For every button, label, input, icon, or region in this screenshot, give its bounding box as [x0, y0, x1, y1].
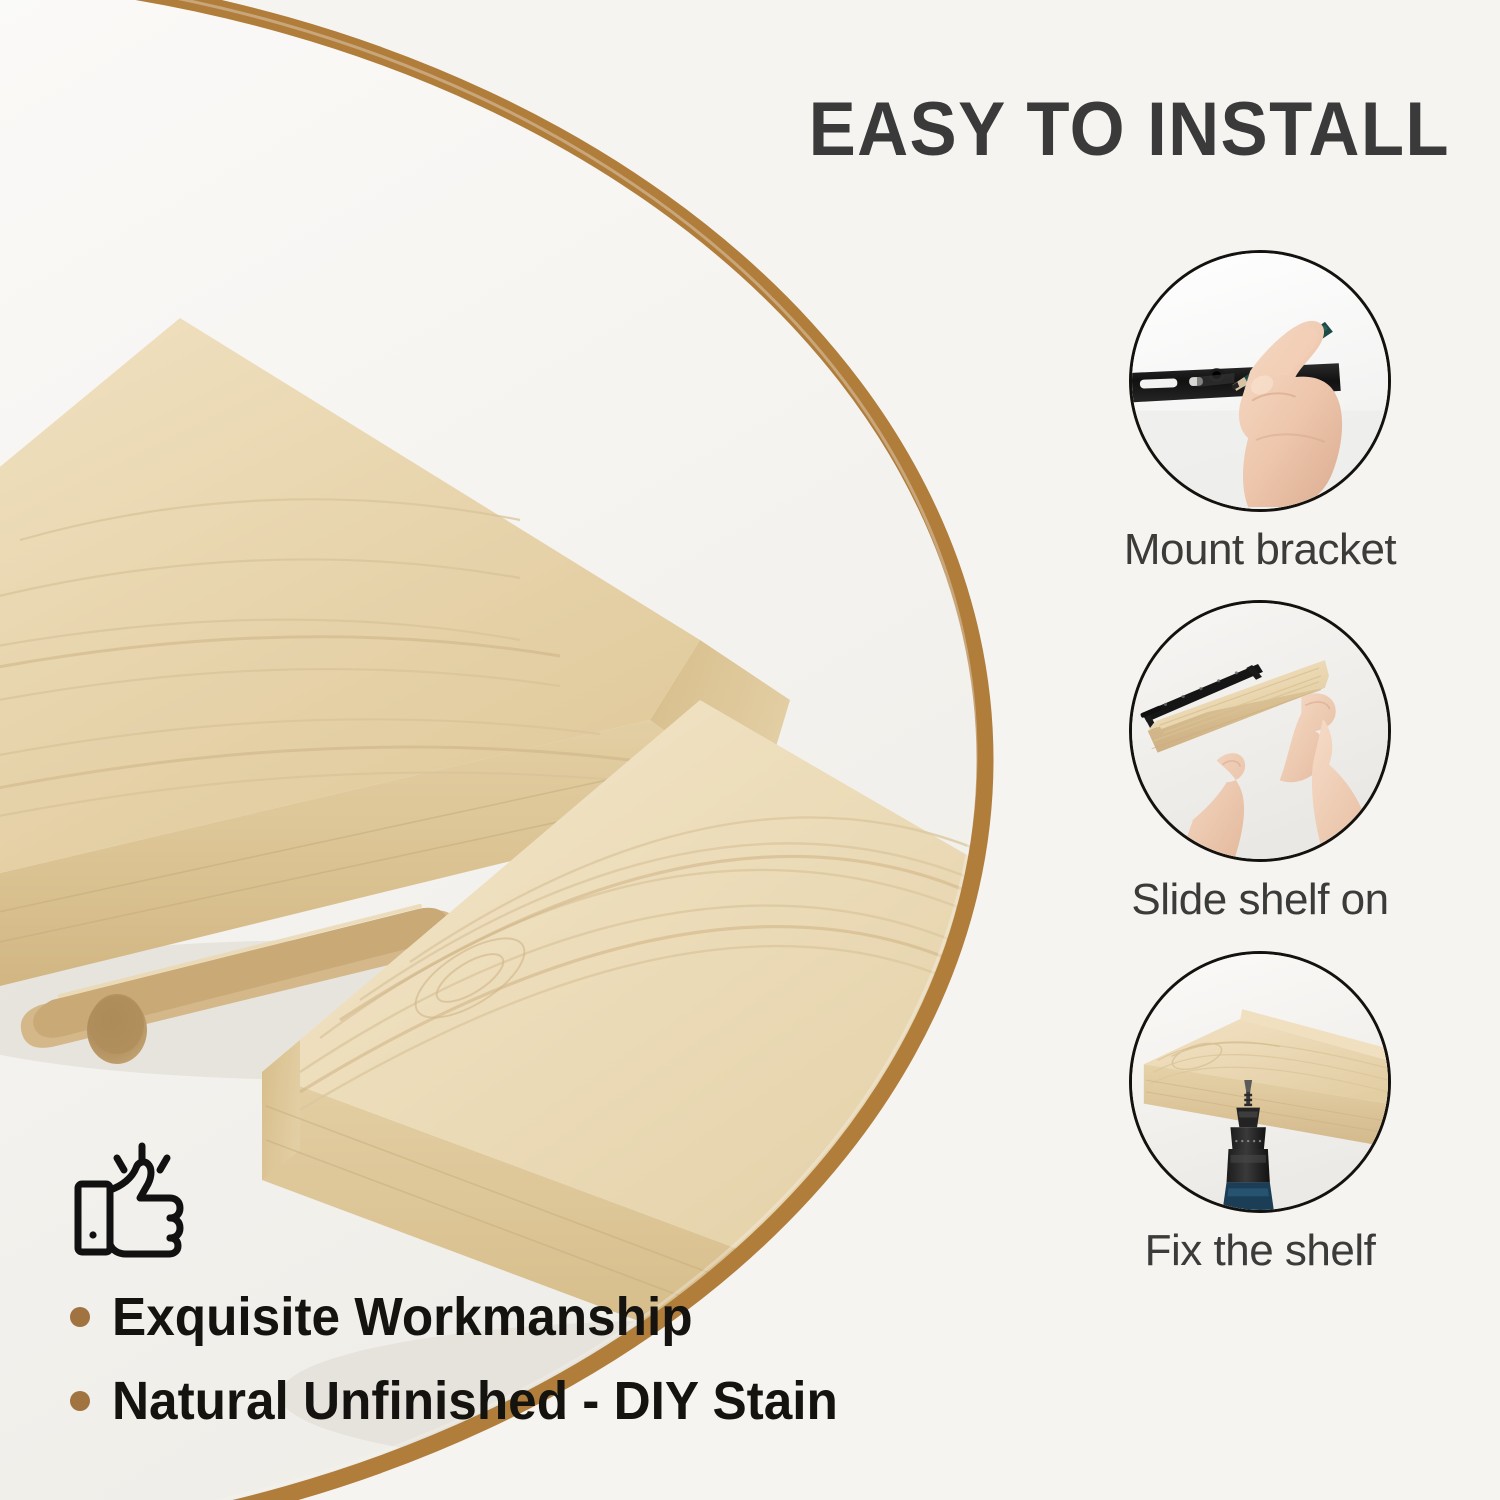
step-1: Mount bracket: [1040, 250, 1480, 574]
bullet-dot: [70, 1391, 90, 1411]
step-2-photo: [1129, 600, 1391, 862]
infographic-root: EASY TO INSTALL: [0, 0, 1500, 1500]
hands-sliding-shelf-photo: [1132, 603, 1388, 859]
feature-text: Natural Unfinished - DIY Stain: [112, 1370, 838, 1432]
page-title: EASY TO INSTALL: [706, 92, 1450, 168]
features-block: Exquisite Workmanship Natural Unfinished…: [70, 1140, 930, 1454]
feature-text: Exquisite Workmanship: [112, 1286, 693, 1348]
thumb-cuff-dot: [89, 1231, 96, 1238]
drill-fixing-shelf-photo: [1132, 954, 1388, 1210]
thumbs-up-icon: [70, 1140, 206, 1266]
feature-item: Exquisite Workmanship: [70, 1286, 930, 1348]
hand-marking-bracket-photo: [1132, 253, 1388, 509]
feature-list: Exquisite Workmanship Natural Unfinished…: [70, 1286, 930, 1432]
step-3-photo: [1129, 951, 1391, 1213]
step-1-photo: [1129, 250, 1391, 512]
step-1-label: Mount bracket: [1040, 526, 1480, 574]
step-3-label: Fix the shelf: [1040, 1227, 1480, 1275]
bullet-dot: [70, 1307, 90, 1327]
step-2-label: Slide shelf on: [1040, 876, 1480, 924]
install-steps: Mount bracket: [1040, 250, 1480, 1301]
step-2: Slide shelf on: [1040, 600, 1480, 924]
feature-item: Natural Unfinished - DIY Stain: [70, 1370, 930, 1432]
step-3: Fix the shelf: [1040, 951, 1480, 1275]
